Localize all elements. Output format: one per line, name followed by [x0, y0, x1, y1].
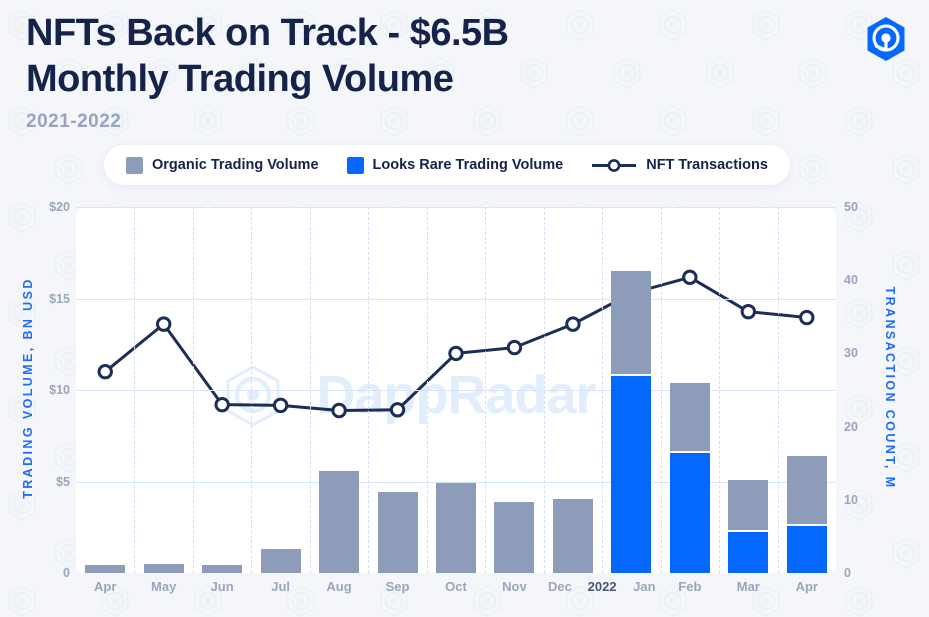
bar-segment-looks-rare: [611, 376, 651, 573]
plot-inner: DappRadar: [76, 207, 836, 573]
gridline-vertical: [310, 207, 311, 573]
gridline-vertical: [602, 207, 603, 573]
legend-item-nft-transactions[interactable]: NFT Transactions: [591, 157, 768, 174]
y-axis-left-tick-label: $5: [56, 475, 70, 489]
chart-bar[interactable]: [728, 480, 768, 573]
chart-bar[interactable]: [436, 483, 476, 573]
x-axis-tick-label: Jan: [633, 579, 655, 594]
legend-item-looks-rare[interactable]: Looks Rare Trading Volume: [347, 157, 564, 174]
bar-segment-organic: [553, 499, 593, 573]
line-data-point[interactable]: [508, 341, 520, 353]
bar-segment-organic: [261, 549, 301, 573]
x-axis-tick-label: Apr: [796, 579, 818, 594]
y-axis-left-tick-label: $20: [49, 200, 70, 214]
x-axis-tick-label: Nov: [502, 579, 527, 594]
y-axis-right-tick-label: 20: [844, 420, 858, 434]
y-axis-right-tick-label: 50: [844, 200, 858, 214]
line-data-point[interactable]: [274, 399, 286, 411]
y-axis-right-ticks: 01020304050: [844, 195, 884, 617]
gridline-vertical: [778, 207, 779, 573]
y-axis-left-tick-label: $10: [49, 383, 70, 397]
gridline-vertical: [427, 207, 428, 573]
line-data-point[interactable]: [450, 347, 462, 359]
chart-bar[interactable]: [378, 492, 418, 573]
gridline-vertical: [661, 207, 662, 573]
line-data-point[interactable]: [216, 398, 228, 410]
chart-bar[interactable]: [202, 565, 242, 573]
x-axis-tick-label: Apr: [94, 579, 116, 594]
page-subtitle: 2021-2022: [26, 111, 509, 133]
x-axis-tick-label: Dec: [548, 579, 572, 594]
gridline-horizontal: [76, 207, 836, 208]
chart-bar[interactable]: [611, 271, 651, 573]
bar-segment-looks-rare: [728, 532, 768, 573]
chart-bar[interactable]: [144, 564, 184, 573]
gridline-horizontal: [76, 390, 836, 391]
x-axis-tick-label: Mar: [737, 579, 760, 594]
legend-label-organic: Organic Trading Volume: [152, 157, 319, 173]
line-data-point[interactable]: [742, 305, 754, 317]
chart-bar[interactable]: [494, 502, 534, 573]
chart-bar[interactable]: [261, 549, 301, 573]
gridline-vertical: [251, 207, 252, 573]
bar-segment-organic: [436, 483, 476, 573]
x-axis-tick-label: Jun: [211, 579, 234, 594]
chart-bar[interactable]: [670, 383, 710, 573]
chart-legend: Organic Trading Volume Looks Rare Tradin…: [104, 145, 790, 185]
legend-swatch-organic: [126, 157, 143, 174]
y-axis-right-tick-label: 40: [844, 273, 858, 287]
x-axis-tick-label: May: [151, 579, 176, 594]
gridline-vertical: [719, 207, 720, 573]
x-axis-tick-label: Aug: [326, 579, 351, 594]
y-axis-right-tick-label: 10: [844, 493, 858, 507]
chart-bar[interactable]: [553, 499, 593, 573]
x-axis-year-marker: 2022: [588, 579, 617, 594]
page-title: NFTs Back on Track - $6.5B Monthly Tradi…: [26, 10, 509, 102]
line-data-point[interactable]: [801, 311, 813, 323]
bar-segment-organic: [787, 456, 827, 526]
bar-segment-organic: [670, 383, 710, 453]
chart-bar[interactable]: [787, 456, 827, 573]
legend-marker-line-icon: [591, 157, 637, 174]
gridline-vertical: [134, 207, 135, 573]
line-data-point[interactable]: [333, 404, 345, 416]
y-axis-right-title: TRANSACTION COUNT, M: [883, 268, 897, 508]
line-data-point[interactable]: [99, 366, 111, 378]
bar-segment-organic: [494, 502, 534, 573]
gridline-horizontal: [76, 299, 836, 300]
legend-swatch-looks-rare: [347, 157, 364, 174]
header: NFTs Back on Track - $6.5B Monthly Tradi…: [26, 10, 509, 133]
line-data-point[interactable]: [684, 271, 696, 283]
legend-label-looks-rare: Looks Rare Trading Volume: [373, 157, 564, 173]
gridline-vertical: [485, 207, 486, 573]
bar-segment-organic: [728, 480, 768, 531]
chart-bar[interactable]: [85, 565, 125, 573]
gridline-vertical: [368, 207, 369, 573]
bar-segment-looks-rare: [787, 526, 827, 573]
bar-segment-organic: [611, 271, 651, 375]
legend-item-organic[interactable]: Organic Trading Volume: [126, 157, 319, 174]
dappradar-logo-icon: [865, 16, 907, 62]
x-axis-labels: AprMayJunJulAugSepOctNovDecJanFebMarApr2…: [76, 579, 836, 609]
x-axis-tick-label: Sep: [386, 579, 410, 594]
bar-segment-organic: [378, 492, 418, 573]
line-data-point[interactable]: [567, 318, 579, 330]
chart-bar[interactable]: [319, 471, 359, 573]
bar-segment-organic: [319, 471, 359, 573]
bar-segment-organic: [202, 565, 242, 573]
y-axis-left-title: TRADING VOLUME, BN USD: [21, 268, 35, 508]
bar-segment-organic: [85, 565, 125, 573]
plot-area: DappRadar: [76, 207, 836, 573]
gridline-vertical: [193, 207, 194, 573]
y-axis-right-tick-label: 30: [844, 346, 858, 360]
gridline-vertical: [544, 207, 545, 573]
x-axis-tick-label: Feb: [678, 579, 701, 594]
legend-label-nft-transactions: NFT Transactions: [646, 157, 768, 173]
bar-segment-organic: [144, 564, 184, 573]
chart: 0$5$10$15$20 01020304050 TRADING VOLUME,…: [0, 195, 929, 617]
line-data-point[interactable]: [157, 318, 169, 330]
line-data-point[interactable]: [391, 404, 403, 416]
bar-segment-looks-rare: [670, 453, 710, 573]
y-axis-right-tick-label: 0: [844, 566, 851, 580]
y-axis-left-tick-label: $15: [49, 292, 70, 306]
x-axis-tick-label: Oct: [445, 579, 467, 594]
y-axis-left-tick-label: 0: [63, 566, 70, 580]
x-axis-tick-label: Jul: [271, 579, 290, 594]
